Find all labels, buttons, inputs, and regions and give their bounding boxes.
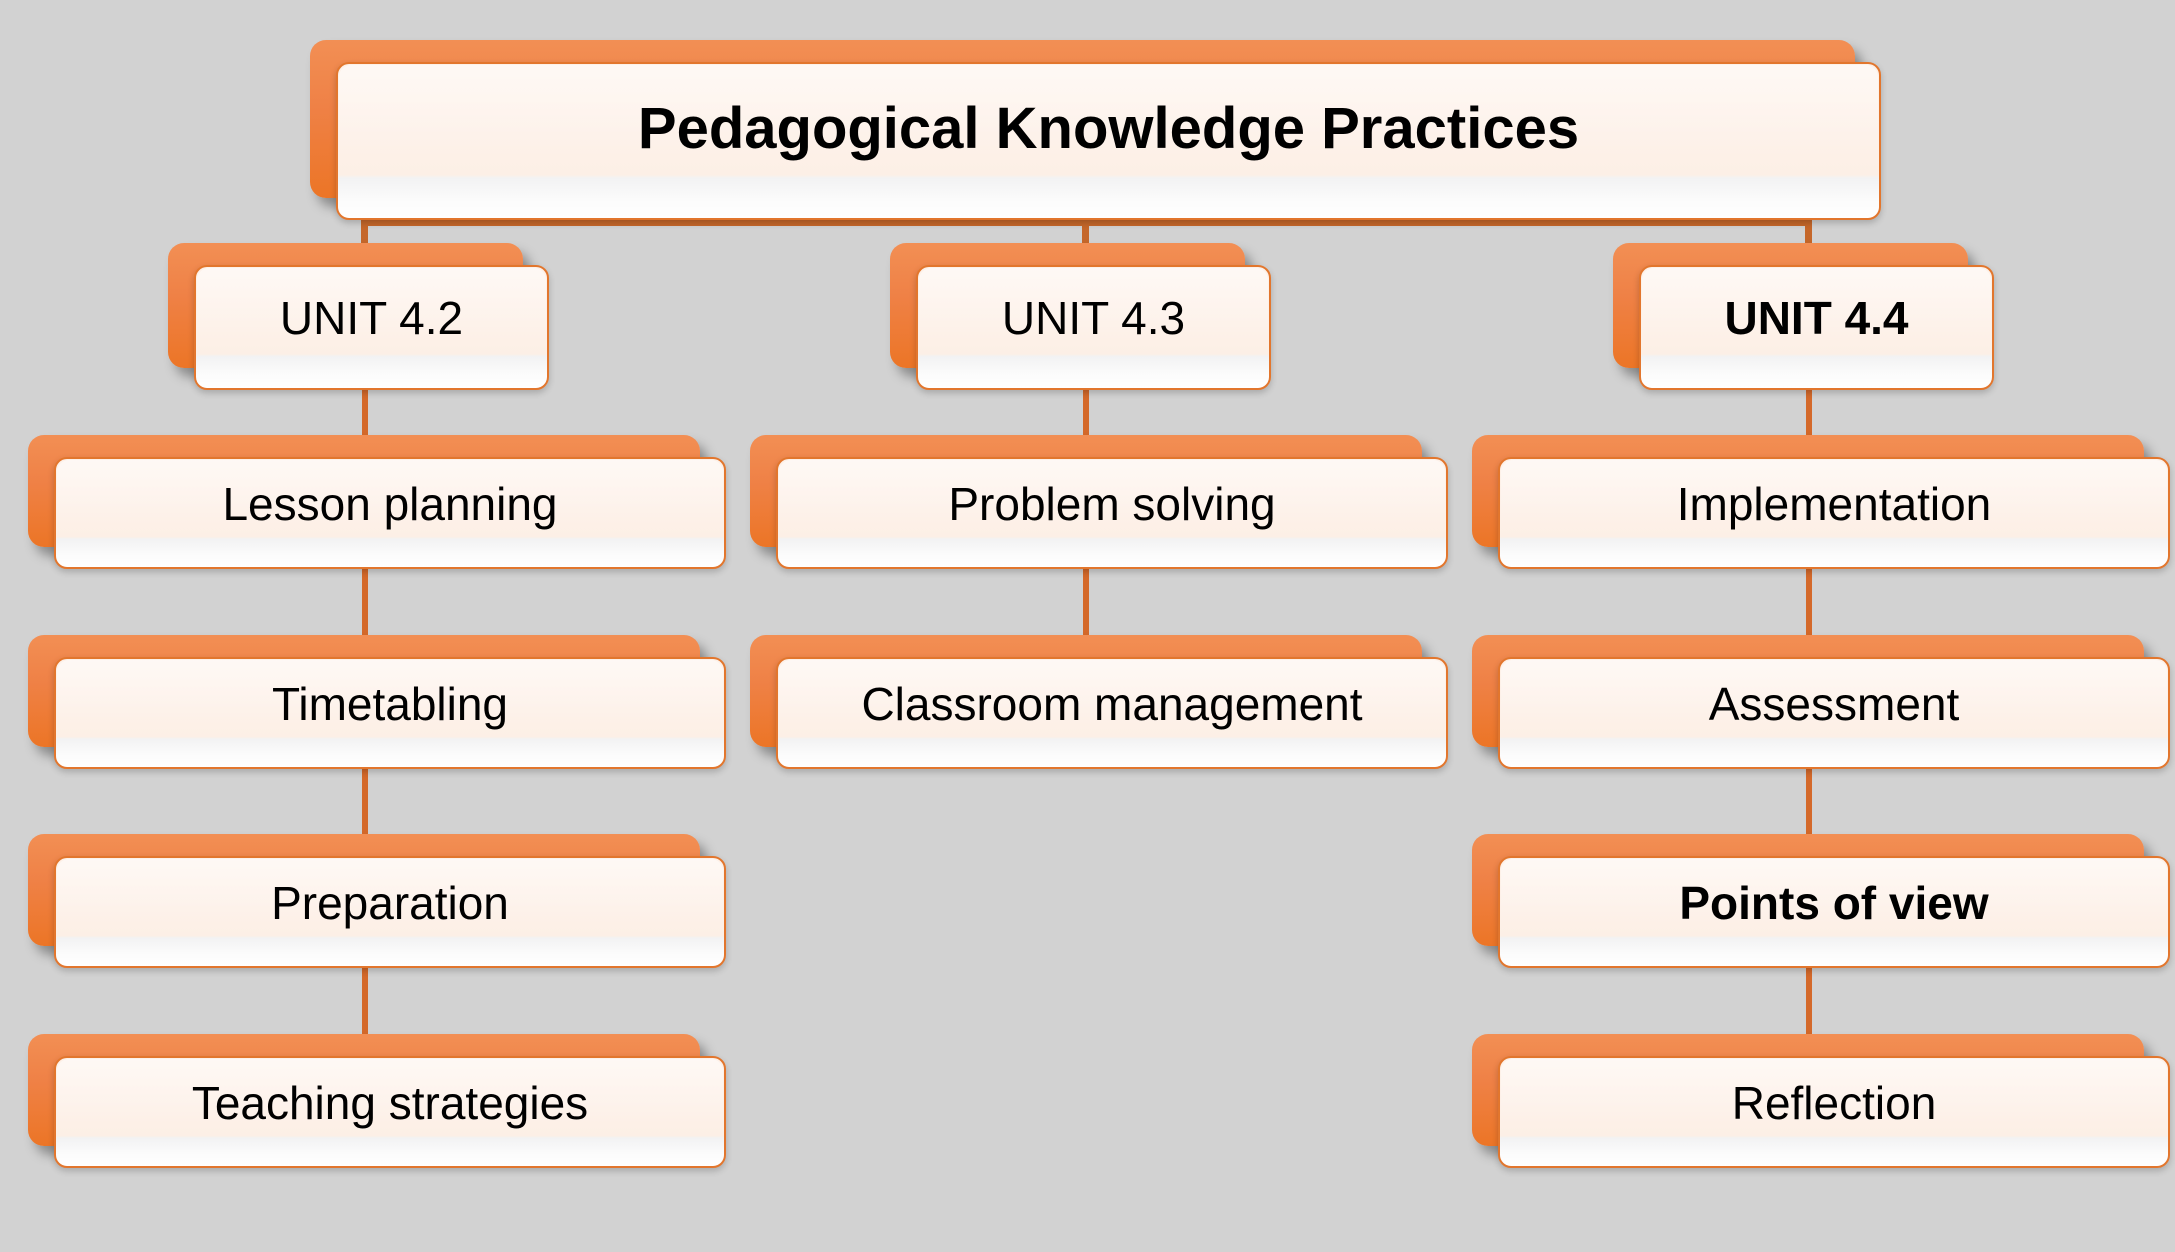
node-label: UNIT 4.4 [1724,294,1908,342]
diagram-canvas: Pedagogical Knowledge Practices UNIT 4.2… [0,0,2175,1252]
node-face: Pedagogical Knowledge Practices [336,62,1881,220]
node-face: UNIT 4.4 [1639,265,1994,390]
node-label: Pedagogical Knowledge Practices [638,99,1579,160]
node-face: Classroom management [776,657,1448,769]
node-label: Points of view [1679,879,1988,927]
node-face: Lesson planning [54,457,726,569]
node-label: Preparation [271,879,509,927]
node-label: Reflection [1732,1079,1937,1127]
node-label: Teaching strategies [192,1079,588,1127]
node-face: Teaching strategies [54,1056,726,1168]
node-timetabling[interactable]: Timetabling [28,635,700,747]
node-classroom-management[interactable]: Classroom management [750,635,1422,747]
node-face: UNIT 4.2 [194,265,549,390]
node-unit-4-2[interactable]: UNIT 4.2 [168,243,523,368]
node-reflection[interactable]: Reflection [1472,1034,2144,1146]
node-face: Timetabling [54,657,726,769]
node-face: Assessment [1498,657,2170,769]
node-face: Reflection [1498,1056,2170,1168]
node-face: UNIT 4.3 [916,265,1271,390]
node-problem-solving[interactable]: Problem solving [750,435,1422,547]
node-face: Preparation [54,856,726,968]
node-face: Points of view [1498,856,2170,968]
node-face: Implementation [1498,457,2170,569]
node-label: Classroom management [861,680,1362,728]
node-preparation[interactable]: Preparation [28,834,700,946]
node-label: Assessment [1709,680,1960,728]
node-points-of-view[interactable]: Points of view [1472,834,2144,946]
node-face: Problem solving [776,457,1448,569]
node-lesson-planning[interactable]: Lesson planning [28,435,700,547]
node-unit-4-4[interactable]: UNIT 4.4 [1613,243,1968,368]
node-root[interactable]: Pedagogical Knowledge Practices [310,40,1855,198]
node-label: Lesson planning [222,480,557,528]
node-label: Timetabling [272,680,508,728]
node-label: UNIT 4.2 [280,294,463,342]
node-label: Implementation [1677,480,1992,528]
node-assessment[interactable]: Assessment [1472,635,2144,747]
node-implementation[interactable]: Implementation [1472,435,2144,547]
node-label: UNIT 4.3 [1002,294,1185,342]
node-unit-4-3[interactable]: UNIT 4.3 [890,243,1245,368]
node-teaching-strategies[interactable]: Teaching strategies [28,1034,700,1146]
node-label: Problem solving [948,480,1275,528]
